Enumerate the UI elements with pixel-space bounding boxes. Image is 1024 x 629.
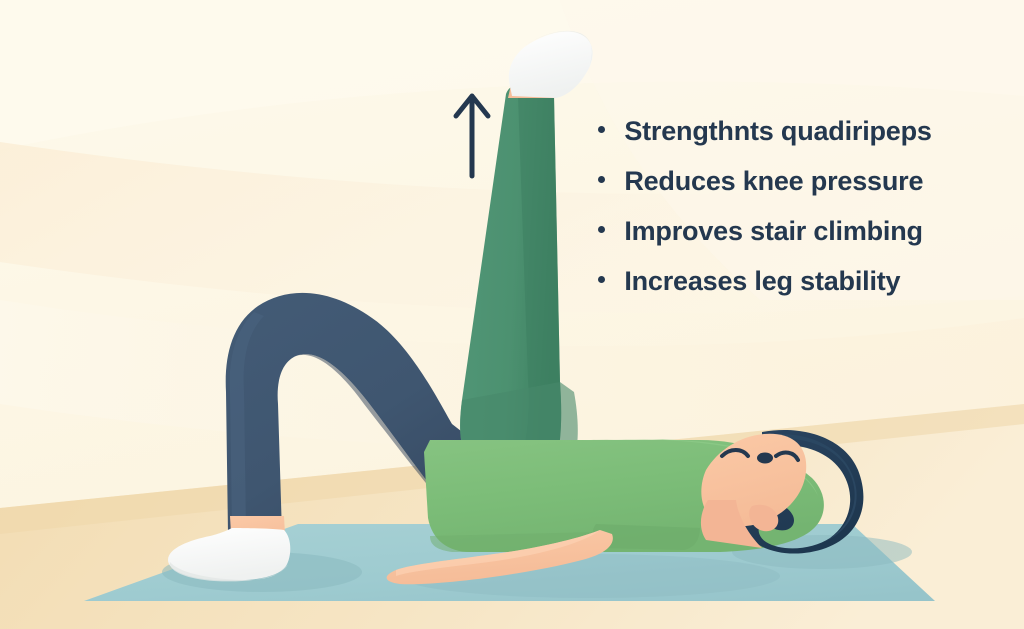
benefit-item: Improves stair climbing bbox=[598, 204, 998, 254]
exercise-illustration: Strengthnts quadiripeps Reduces knee pre… bbox=[0, 0, 1024, 629]
benefit-label: Increases leg stability bbox=[624, 256, 900, 306]
nose bbox=[757, 453, 773, 464]
bullet-icon bbox=[598, 176, 605, 183]
benefits-list: Strengthnts quadiripeps Reduces knee pre… bbox=[598, 104, 998, 304]
bullet-icon bbox=[598, 226, 605, 233]
benefit-item: Strengthnts quadiripeps bbox=[598, 104, 998, 154]
bullet-icon bbox=[598, 276, 605, 283]
benefit-item: Reduces knee pressure bbox=[598, 154, 998, 204]
benefit-label: Improves stair climbing bbox=[624, 206, 923, 256]
benefit-item: Increases leg stability bbox=[598, 254, 998, 304]
benefit-label: Reduces knee pressure bbox=[624, 156, 923, 206]
illustration-canvas bbox=[0, 0, 1024, 629]
benefit-label: Strengthnts quadiripeps bbox=[624, 106, 931, 156]
bullet-icon bbox=[598, 126, 605, 133]
